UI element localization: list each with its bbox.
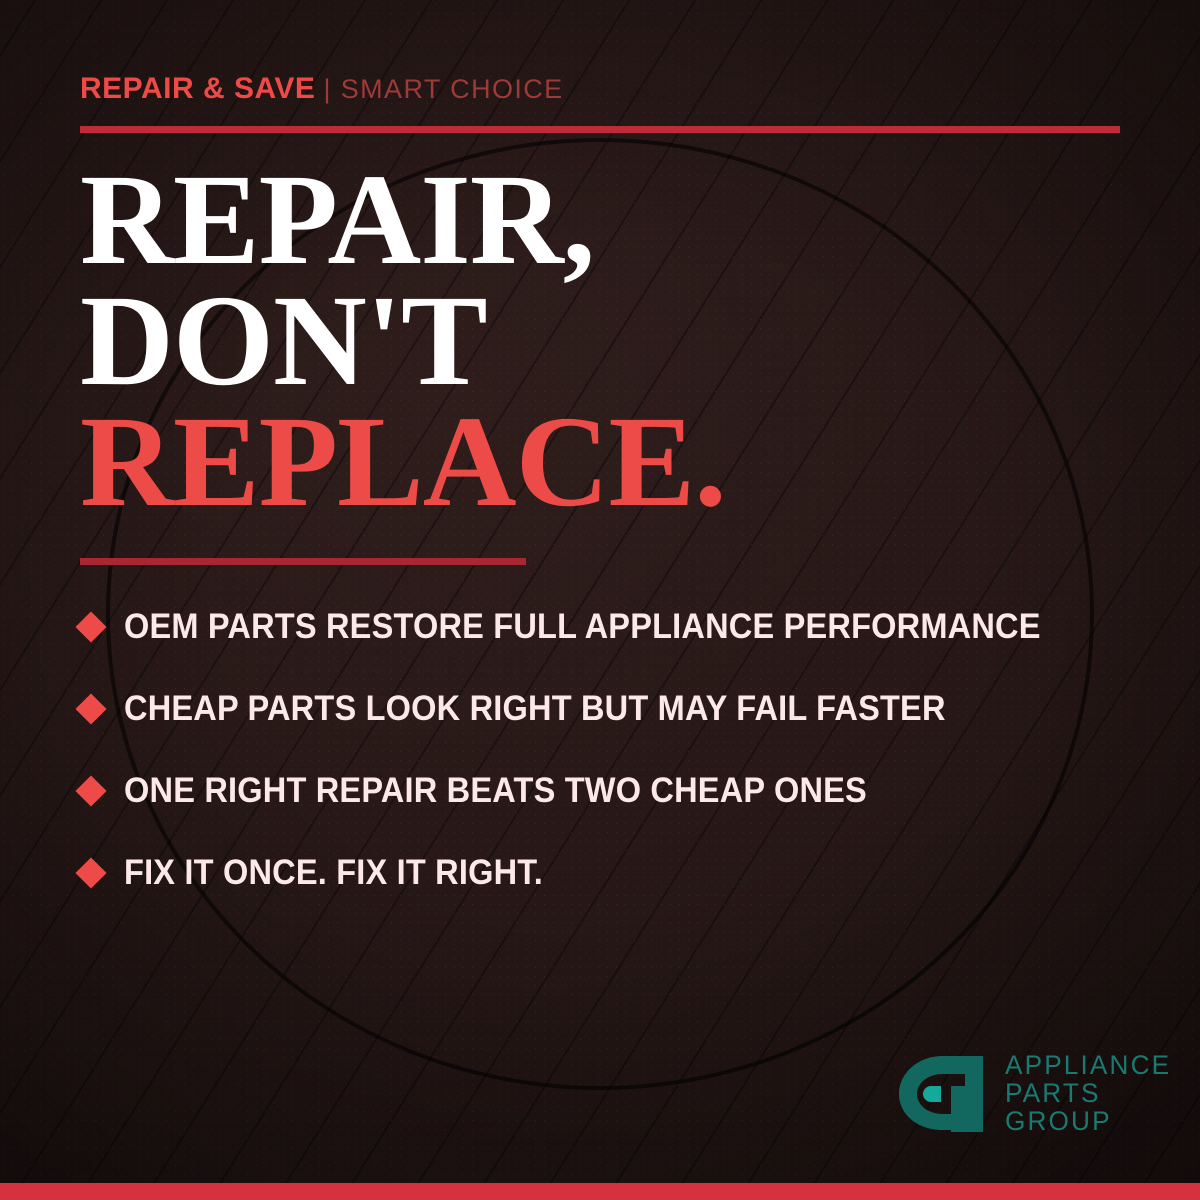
g-monogram-icon xyxy=(895,1052,991,1136)
promo-poster: REPAIR & SAVE| SMART CHOICE REPAIR, DON'… xyxy=(0,0,1200,1200)
header-rule xyxy=(80,126,1120,133)
list-item: FIX IT ONCE. FIX IT RIGHT. xyxy=(80,832,1160,914)
brand-logo: APPLIANCE PARTS GROUP xyxy=(895,1052,1176,1136)
eyebrow-light-text: | SMART CHOICE xyxy=(323,74,563,104)
list-item-label: OEM PARTS RESTORE FULL APPLIANCE PERFORM… xyxy=(124,607,1041,647)
eyebrow-strong-text: REPAIR & SAVE xyxy=(80,72,315,105)
list-item: ONE RIGHT REPAIR BEATS TWO CHEAP ONES xyxy=(80,750,1160,832)
eyebrow: REPAIR & SAVE| SMART CHOICE xyxy=(80,72,564,106)
list-item: OEM PARTS RESTORE FULL APPLIANCE PERFORM… xyxy=(80,586,1160,668)
logo-line-3: GROUP xyxy=(1005,1108,1171,1136)
list-item: CHEAP PARTS LOOK RIGHT BUT MAY FAIL FAST… xyxy=(80,668,1160,750)
diamond-bullet-icon xyxy=(75,611,106,642)
headline-divider xyxy=(80,558,526,565)
poster-content: REPAIR & SAVE| SMART CHOICE REPAIR, DON'… xyxy=(0,0,1200,1200)
diamond-bullet-icon xyxy=(75,693,106,724)
list-item-label: ONE RIGHT REPAIR BEATS TWO CHEAP ONES xyxy=(124,771,867,811)
diamond-bullet-icon xyxy=(75,775,106,806)
headline: REPAIR, DON'T REPLACE. xyxy=(80,160,1140,523)
list-item-label: CHEAP PARTS LOOK RIGHT BUT MAY FAIL FAST… xyxy=(124,689,946,729)
logo-wordmark: APPLIANCE PARTS GROUP xyxy=(1005,1052,1176,1135)
headline-line-1: REPAIR, xyxy=(80,160,1140,281)
logo-line-2: PARTS xyxy=(1005,1080,1171,1108)
diamond-bullet-icon xyxy=(75,857,106,888)
headline-line-3: REPLACE. xyxy=(80,402,1140,523)
list-item-label: FIX IT ONCE. FIX IT RIGHT. xyxy=(124,853,543,893)
logo-line-1: APPLIANCE xyxy=(1005,1052,1171,1080)
benefit-list: OEM PARTS RESTORE FULL APPLIANCE PERFORM… xyxy=(80,586,1160,914)
headline-line-2: DON'T xyxy=(80,281,1140,402)
bottom-accent-bar xyxy=(0,1183,1200,1200)
